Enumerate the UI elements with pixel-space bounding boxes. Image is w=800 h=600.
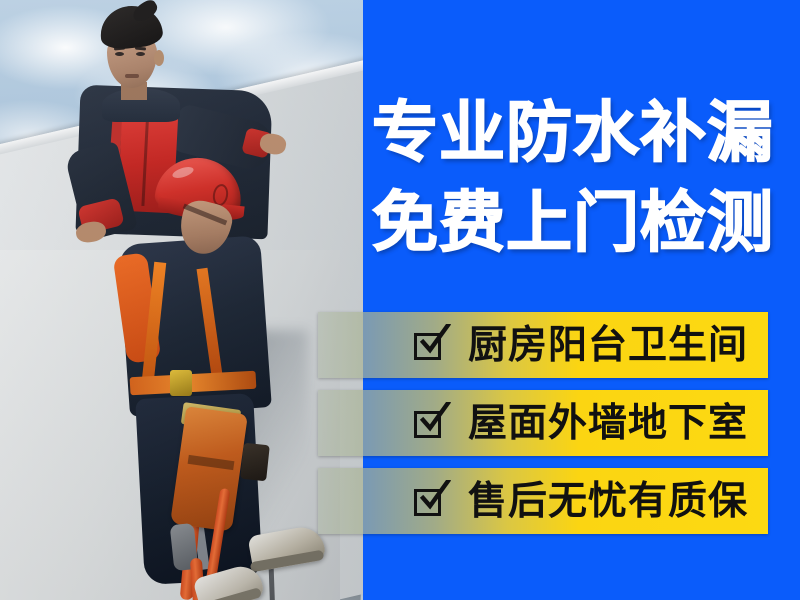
headline-line-1: 专业防水补漏 [372, 88, 792, 178]
upper-worker-right-eye [136, 52, 145, 56]
feature-bar-3: 售后无忧有质保 [318, 468, 768, 534]
upper-worker-ear [154, 50, 164, 66]
feature-label-1: 厨房阳台卫生间 [468, 326, 748, 365]
check-box-icon [414, 328, 448, 362]
check-box-icon [414, 484, 448, 518]
feature-bar-2: 屋面外墙地下室 [318, 390, 768, 456]
feature-bar-1: 厨房阳台卫生间 [318, 312, 768, 378]
check-box-icon [414, 406, 448, 440]
upper-worker-left-eye [115, 52, 124, 56]
feature-label-2: 屋面外墙地下室 [468, 404, 748, 443]
advertisement-poster: 专业防水补漏 免费上门检测 厨房阳台卫生间 屋面外墙地下室 [0, 0, 800, 600]
upper-worker-mouth [125, 74, 139, 78]
headline-block: 专业防水补漏 免费上门检测 [372, 88, 792, 268]
headline-line-2: 免费上门检测 [372, 178, 792, 268]
feature-list: 厨房阳台卫生间 屋面外墙地下室 售后无忧有质保 [0, 312, 800, 546]
feature-label-3: 售后无忧有质保 [468, 482, 748, 521]
